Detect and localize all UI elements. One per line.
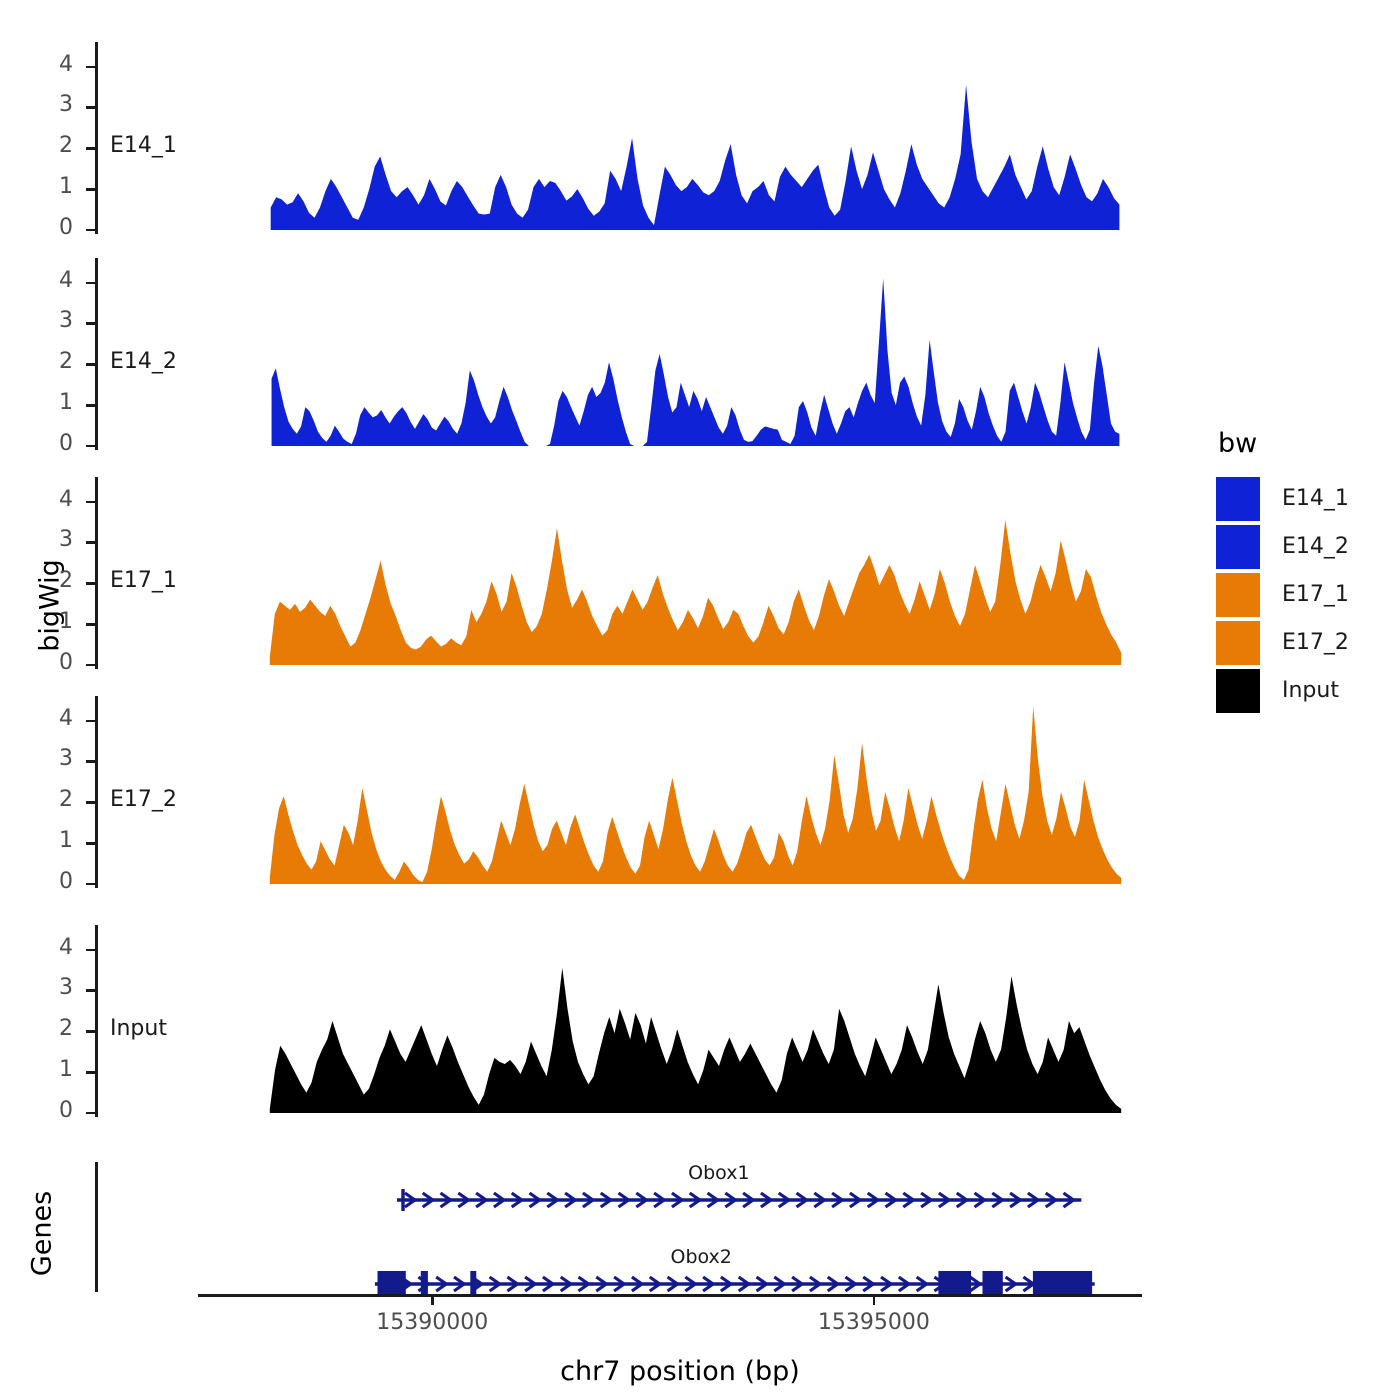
legend-label: E14_1 bbox=[1282, 486, 1349, 511]
legend-item-e14_2[interactable]: E14_2 bbox=[1216, 523, 1349, 570]
legend-swatch-icon bbox=[1216, 573, 1260, 617]
signal-area-e14_1 bbox=[0, 42, 1400, 232]
signal-area-e14_2 bbox=[0, 258, 1400, 448]
x-tick bbox=[431, 1296, 433, 1305]
x-axis-line bbox=[198, 1294, 1142, 1297]
signal-area-input bbox=[0, 925, 1400, 1115]
legend-item-input[interactable]: Input bbox=[1216, 667, 1349, 714]
track-panel-input: 01234Input bbox=[0, 925, 1400, 1113]
legend-item-e14_1[interactable]: E14_1 bbox=[1216, 475, 1349, 522]
signal-area-e17_1 bbox=[0, 477, 1400, 667]
legend-swatch-icon bbox=[1216, 669, 1260, 713]
track-panel-e17_1: 01234E17_1 bbox=[0, 477, 1400, 665]
legend-items: E14_1E14_2E17_1E17_2Input bbox=[1216, 475, 1349, 714]
legend-label: E14_2 bbox=[1282, 534, 1349, 559]
legend-swatch-icon bbox=[1216, 477, 1260, 521]
x-tick-label: 15395000 bbox=[784, 1310, 964, 1335]
genes-track: Obox1Obox2 bbox=[0, 1162, 1400, 1292]
track-panel-e17_2: 01234E17_2 bbox=[0, 696, 1400, 884]
legend-swatch-icon bbox=[1216, 525, 1260, 569]
legend-item-e17_1[interactable]: E17_1 bbox=[1216, 571, 1349, 618]
legend-item-e17_2[interactable]: E17_2 bbox=[1216, 619, 1349, 666]
track-panel-e14_2: 01234E14_2 bbox=[0, 258, 1400, 446]
legend-label: Input bbox=[1282, 678, 1339, 703]
legend-title: bw bbox=[1218, 428, 1349, 459]
legend-swatch-icon bbox=[1216, 621, 1260, 665]
legend: bw E14_1E14_2E17_1E17_2Input bbox=[1216, 428, 1349, 715]
x-axis-title: chr7 position (bp) bbox=[300, 1356, 1060, 1387]
x-tick-label: 15390000 bbox=[342, 1310, 522, 1335]
gene-label-obox1: Obox1 bbox=[688, 1162, 749, 1184]
gene-label-obox2: Obox2 bbox=[670, 1246, 731, 1268]
genome-browser-figure: bigWig Genes 01234E14_101234E14_201234E1… bbox=[0, 0, 1400, 1400]
x-tick bbox=[873, 1296, 875, 1305]
legend-label: E17_1 bbox=[1282, 582, 1349, 607]
signal-area-e17_2 bbox=[0, 696, 1400, 886]
track-panel-e14_1: 01234E14_1 bbox=[0, 42, 1400, 230]
legend-label: E17_2 bbox=[1282, 630, 1349, 655]
